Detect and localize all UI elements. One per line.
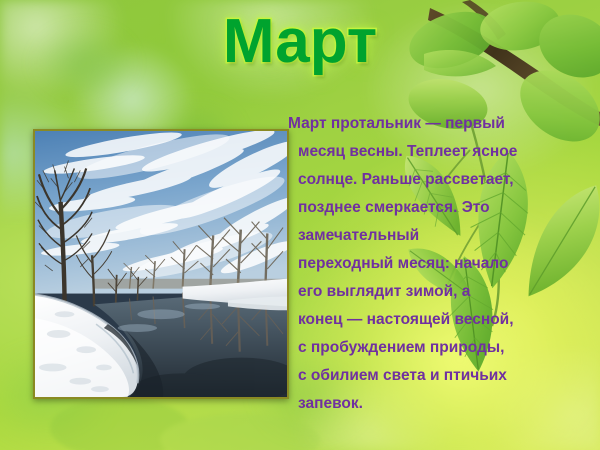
body-line: переходный месяц: начало [298, 250, 598, 278]
body-line: запевок. [298, 390, 598, 418]
page-title: Март [0, 11, 600, 73]
body-line: замечательный [298, 222, 598, 250]
body-line: с обилием света и птичьих [298, 362, 598, 390]
body-line: месяц весны. Теплеет ясное [298, 138, 598, 166]
body-line: позднее смеркается. Это [298, 194, 598, 222]
body-line: с пробуждением природы, [298, 334, 598, 362]
body-line: конец — настоящей весной, [298, 306, 598, 334]
slide-march: Март [0, 0, 600, 450]
body-paragraph: Март протальник — первый месяц весны. Те… [288, 110, 598, 418]
body-line: солнце. Раньше рассветает, [298, 166, 598, 194]
winter-river-landscape-photo [33, 129, 289, 399]
body-line: Март протальник — первый [288, 110, 598, 138]
body-line: его выглядит зимой, а [298, 278, 598, 306]
